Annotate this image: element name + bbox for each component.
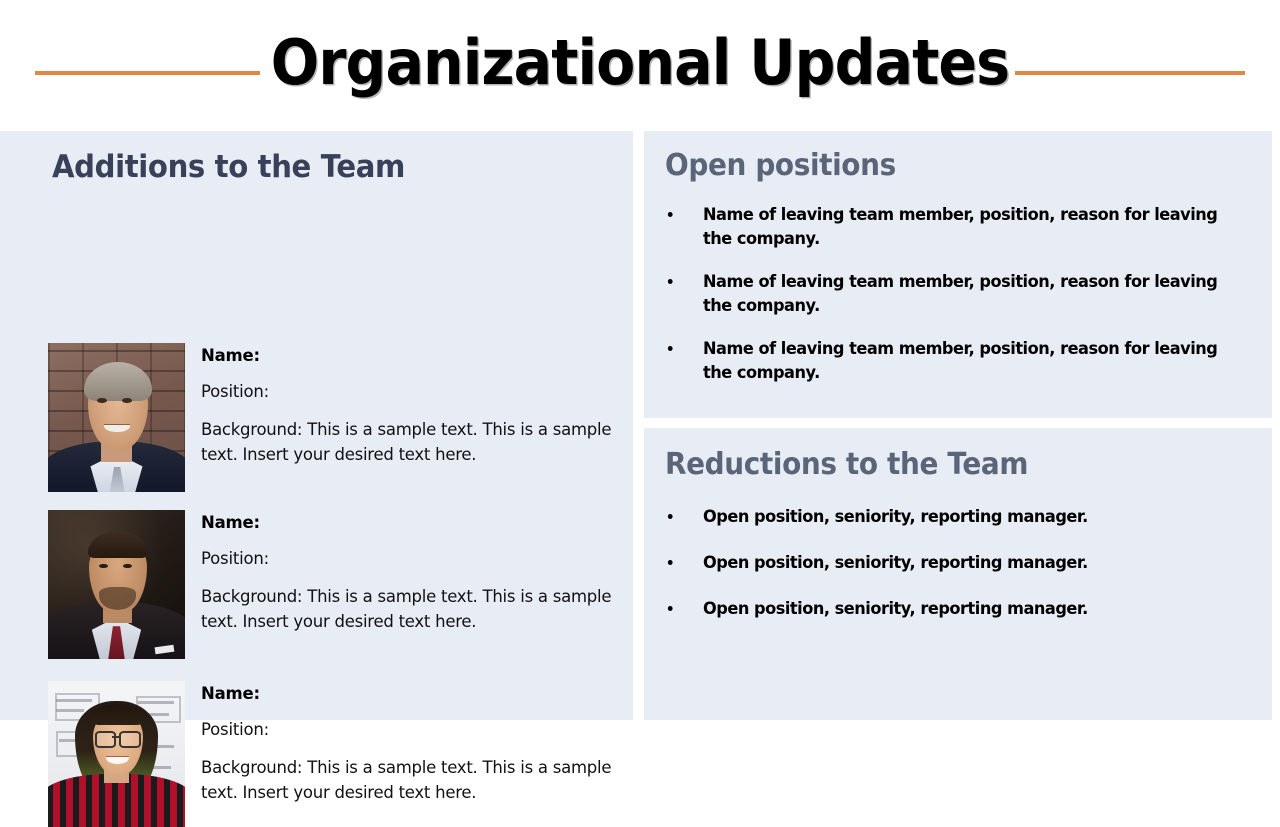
member-text-block: Name: Position: Background: This is a sa… bbox=[201, 683, 616, 805]
member-position-label: Position: bbox=[201, 719, 616, 741]
list-item: Open position, seniority, reporting mana… bbox=[665, 551, 1226, 575]
list-item-text: Name of leaving team member, position, r… bbox=[703, 205, 1217, 249]
member-photo-man-brick-wall bbox=[48, 343, 185, 492]
member-photo-young-man-red-tie bbox=[48, 510, 185, 659]
list-item: Open position, seniority, reporting mana… bbox=[665, 505, 1226, 529]
page-title: Organizational Updates bbox=[51, 27, 1229, 99]
bullet-dot-icon bbox=[668, 606, 673, 611]
list-item: Name of leaving team member, position, r… bbox=[665, 270, 1226, 318]
bullet-dot-icon bbox=[668, 279, 673, 284]
list-item: Name of leaving team member, position, r… bbox=[665, 203, 1226, 251]
open-positions-heading: Open positions bbox=[665, 148, 896, 183]
member-background-text: Background: This is a sample text. This … bbox=[201, 755, 616, 805]
member-text-block: Name: Position: Background: This is a sa… bbox=[201, 512, 616, 634]
list-item-text: Name of leaving team member, position, r… bbox=[703, 339, 1217, 383]
additions-panel: Additions to the Team Name: Position: Ba… bbox=[0, 131, 633, 720]
bullet-dot-icon bbox=[668, 346, 673, 351]
slide-title-bar: Organizational Updates bbox=[0, 0, 1280, 131]
member-name-label: Name: bbox=[201, 683, 616, 705]
list-item: Name of leaving team member, position, r… bbox=[665, 337, 1226, 385]
member-name-label: Name: bbox=[201, 345, 616, 367]
list-item-text: Open position, seniority, reporting mana… bbox=[703, 507, 1088, 527]
title-rule-right bbox=[1015, 71, 1245, 75]
reductions-bullet-list: Open position, seniority, reporting mana… bbox=[665, 505, 1255, 643]
bullet-dot-icon bbox=[668, 560, 673, 565]
member-background-text: Background: This is a sample text. This … bbox=[201, 417, 616, 467]
list-item-text: Name of leaving team member, position, r… bbox=[703, 272, 1217, 316]
member-position-label: Position: bbox=[201, 381, 616, 403]
list-item-text: Open position, seniority, reporting mana… bbox=[703, 553, 1088, 573]
open-positions-bullet-list: Name of leaving team member, position, r… bbox=[665, 203, 1255, 404]
member-text-block: Name: Position: Background: This is a sa… bbox=[201, 345, 616, 467]
additions-heading: Additions to the Team bbox=[52, 149, 405, 185]
member-position-label: Position: bbox=[201, 548, 616, 570]
bullet-dot-icon bbox=[668, 212, 673, 217]
member-photo-woman-glasses-plaid bbox=[48, 681, 185, 827]
reductions-heading: Reductions to the Team bbox=[665, 447, 1028, 482]
list-item: Open position, seniority, reporting mana… bbox=[665, 597, 1226, 621]
bullet-dot-icon bbox=[668, 514, 673, 519]
member-background-text: Background: This is a sample text. This … bbox=[201, 584, 616, 634]
member-name-label: Name: bbox=[201, 512, 616, 534]
list-item-text: Open position, seniority, reporting mana… bbox=[703, 599, 1088, 619]
